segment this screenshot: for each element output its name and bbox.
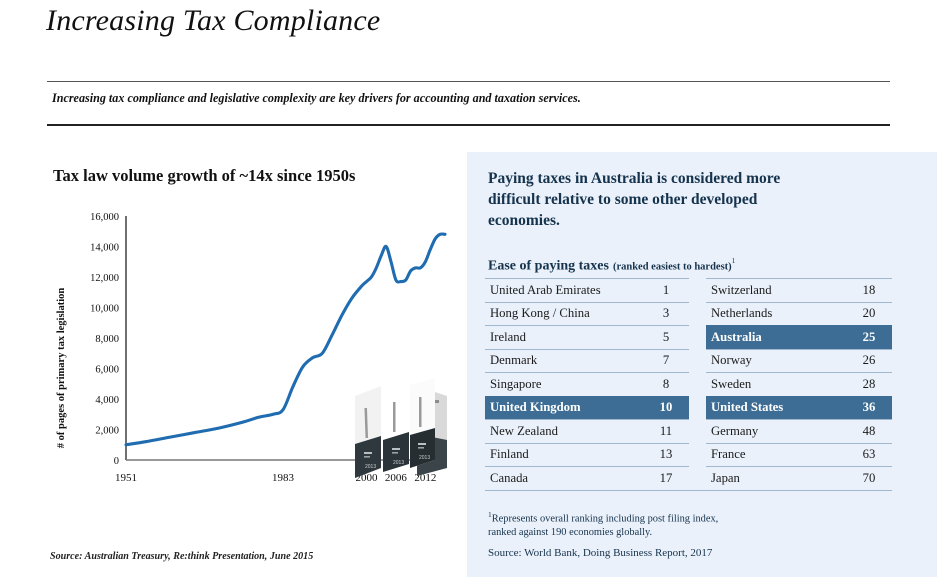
table-row: New Zealand11Germany48 — [485, 420, 892, 444]
country-rank-right: 20 — [841, 302, 892, 326]
svg-text:2013: 2013 — [419, 455, 430, 461]
column-gap — [689, 326, 706, 350]
column-gap — [689, 420, 706, 444]
country-rank-left: 11 — [638, 420, 689, 444]
country-name-right: Japan — [706, 467, 841, 491]
y-tick-label: 12,000 — [90, 273, 119, 284]
country-name-left: United Arab Emirates — [485, 279, 638, 303]
country-rank-left: 10 — [638, 396, 689, 420]
country-rank-right: 28 — [841, 373, 892, 397]
chart-source-note: Source: Australian Treasury, Re:think Pr… — [50, 551, 313, 562]
footnote-line-2: ranked against 190 economies globally. — [488, 526, 818, 540]
chart-block: Tax law volume growth of ~14x since 1950… — [47, 160, 457, 520]
country-rank-right: 48 — [841, 420, 892, 444]
y-axis-tick-labels: 02,0004,0006,0008,00010,00012,00014,0001… — [90, 212, 119, 467]
y-tick-label: 2,000 — [95, 426, 119, 437]
country-rank-right: 25 — [841, 326, 892, 350]
table-row: Denmark7Norway26 — [485, 349, 892, 373]
column-gap — [689, 443, 706, 467]
table-body: United Arab Emirates1Switzerland18Hong K… — [485, 279, 892, 491]
country-rank-left: 17 — [638, 467, 689, 491]
y-tick-label: 6,000 — [95, 365, 119, 376]
footnote-text-1: Represents overall ranking including pos… — [492, 513, 719, 524]
country-name-left: Hong Kong / China — [485, 302, 638, 326]
table-row: United Kingdom10United States36 — [485, 396, 892, 420]
side-panel: Paying taxes in Australia is considered … — [467, 152, 937, 577]
x-tick-label: 1951 — [115, 472, 137, 484]
table-row: Finland13France63 — [485, 443, 892, 467]
country-name-left: Denmark — [485, 349, 638, 373]
country-name-right: Netherlands — [706, 302, 841, 326]
country-name-right: Norway — [706, 349, 841, 373]
chart-title: Tax law volume growth of ~14x since 1950… — [53, 166, 355, 186]
country-rank-right: 18 — [841, 279, 892, 303]
header-rule-bottom — [47, 124, 890, 126]
table-caption-main: Ease of paying taxes — [488, 258, 609, 273]
column-gap — [689, 349, 706, 373]
y-tick-label: 4,000 — [95, 395, 119, 406]
table-caption-superscript: 1 — [732, 256, 736, 265]
country-rank-left: 13 — [638, 443, 689, 467]
tax-legislation-volumes-image: 2013 2013 2013 — [347, 372, 453, 484]
country-rank-right: 26 — [841, 349, 892, 373]
country-name-left: Canada — [485, 467, 638, 491]
table-row: United Arab Emirates1Switzerland18 — [485, 279, 892, 303]
column-gap — [689, 396, 706, 420]
country-name-right: Germany — [706, 420, 841, 444]
table-row: Ireland5Australia25 — [485, 326, 892, 350]
country-name-right: Australia — [706, 326, 841, 350]
table-caption-sub: (ranked easiest to hardest) — [613, 261, 732, 272]
panel-source-note: Source: World Bank, Doing Business Repor… — [488, 547, 818, 559]
country-rank-left: 5 — [638, 326, 689, 350]
page-subtitle: Increasing tax compliance and legislativ… — [52, 91, 581, 106]
footnote-line-1: 1Represents overall ranking including po… — [488, 508, 818, 526]
country-rank-right: 36 — [841, 396, 892, 420]
column-gap — [689, 279, 706, 303]
column-gap — [689, 467, 706, 491]
country-rank-left: 1 — [638, 279, 689, 303]
country-rank-right: 63 — [841, 443, 892, 467]
country-name-left: Singapore — [485, 373, 638, 397]
country-name-left: Finland — [485, 443, 638, 467]
table-row: Hong Kong / China3Netherlands20 — [485, 302, 892, 326]
y-tick-label: 14,000 — [90, 243, 119, 254]
y-tick-label: 0 — [114, 456, 119, 467]
table-row: Singapore8Sweden28 — [485, 373, 892, 397]
svg-text:2013: 2013 — [393, 460, 404, 466]
y-axis-title: # of pages of primary tax legislation — [56, 288, 67, 449]
country-name-right: France — [706, 443, 841, 467]
table-row: Canada17Japan70 — [485, 467, 892, 491]
country-name-left: United Kingdom — [485, 396, 638, 420]
table-caption: Ease of paying taxes (ranked easiest to … — [488, 256, 735, 274]
header-rule-top — [47, 81, 890, 82]
country-name-left: Ireland — [485, 326, 638, 350]
country-name-right: United States — [706, 396, 841, 420]
country-name-right: Switzerland — [706, 279, 841, 303]
column-gap — [689, 302, 706, 326]
x-tick-label: 1983 — [272, 472, 295, 484]
country-rank-left: 7 — [638, 349, 689, 373]
country-rank-left: 8 — [638, 373, 689, 397]
svg-text:2013: 2013 — [365, 464, 376, 470]
country-name-left: New Zealand — [485, 420, 638, 444]
y-tick-label: 10,000 — [90, 304, 119, 315]
page-title: Increasing Tax Compliance — [46, 4, 380, 38]
column-gap — [689, 373, 706, 397]
y-tick-label: 8,000 — [95, 334, 119, 345]
country-rank-left: 3 — [638, 302, 689, 326]
panel-footnotes: 1Represents overall ranking including po… — [488, 508, 818, 559]
y-tick-label: 16,000 — [90, 212, 119, 223]
panel-heading: Paying taxes in Australia is considered … — [488, 168, 818, 231]
ease-of-paying-taxes-table: United Arab Emirates1Switzerland18Hong K… — [485, 278, 892, 491]
country-rank-right: 70 — [841, 467, 892, 491]
country-name-right: Sweden — [706, 373, 841, 397]
